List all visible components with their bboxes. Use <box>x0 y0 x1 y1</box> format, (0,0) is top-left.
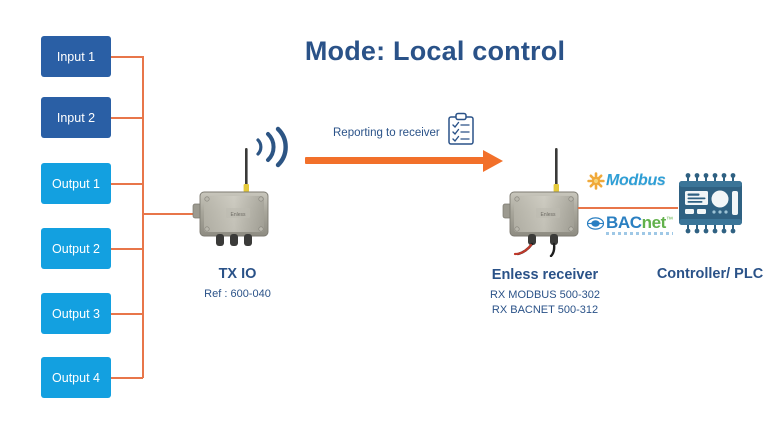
io-box-input-1[interactable]: Input 1 <box>41 36 111 77</box>
clipboard-checklist <box>447 112 475 151</box>
io-box-input-2[interactable]: Input 2 <box>41 97 111 138</box>
flow-arrow-shaft <box>305 157 485 164</box>
bacnet-label-secondary: net <box>642 213 666 232</box>
io-box-label: Input 2 <box>57 111 95 125</box>
io-box-output-1[interactable]: Output 1 <box>41 163 111 204</box>
page-title: Mode: Local control <box>300 36 570 67</box>
bacnet-logo: BACnet™ <box>587 213 673 233</box>
diagram-canvas: Mode: Local control Input 1 Input 2 Outp… <box>0 0 780 438</box>
clipboard-checklist-icon <box>447 112 475 146</box>
bacnet-underline-decoration <box>606 232 673 235</box>
modbus-label: Modbus <box>606 172 666 190</box>
wifi-signal-icon <box>252 126 292 168</box>
svg-text:Enless: Enless <box>540 212 556 218</box>
io-box-output-2[interactable]: Output 2 <box>41 228 111 269</box>
receiver-model-bacnet: RX BACNET 500-312 <box>475 304 615 316</box>
wireless-receiver-enclosure-icon: Enless <box>500 142 595 257</box>
controller-device <box>676 172 754 249</box>
modbus-star-icon <box>587 172 605 190</box>
wire-vertical-bus <box>142 56 144 378</box>
io-box-label: Output 4 <box>52 371 100 385</box>
modbus-logo: Modbus <box>587 172 666 190</box>
wire-stub-output-4 <box>110 377 143 379</box>
svg-text:Enless: Enless <box>230 212 246 218</box>
wire-stub-input-2 <box>110 117 143 119</box>
receiver-device: Enless <box>500 142 595 262</box>
plc-controller-icon <box>676 172 754 244</box>
wire-stub-output-3 <box>110 313 143 315</box>
transmitter-name: TX IO <box>185 266 290 282</box>
wire-stub-output-1 <box>110 183 143 185</box>
bacnet-label-primary: BAC <box>606 213 642 232</box>
io-box-label: Output 1 <box>52 177 100 191</box>
controller-label: Controller/ PLC <box>640 266 780 282</box>
receiver-name: Enless receiver <box>475 267 615 283</box>
io-box-label: Output 2 <box>52 242 100 256</box>
bacnet-emblem-icon <box>587 216 604 231</box>
transmitter-reference: Ref : 600-040 <box>185 288 290 300</box>
io-box-output-3[interactable]: Output 3 <box>41 293 111 334</box>
wire-stub-output-2 <box>110 248 143 250</box>
io-box-label: Input 1 <box>57 50 95 64</box>
bacnet-trademark: ™ <box>666 217 673 224</box>
receiver-model-modbus: RX MODBUS 500-302 <box>475 289 615 301</box>
wire-stub-input-1 <box>110 56 143 58</box>
transmitter-signal <box>252 126 292 173</box>
io-box-label: Output 3 <box>52 307 100 321</box>
io-box-output-4[interactable]: Output 4 <box>41 357 111 398</box>
wire-receiver-to-controller <box>578 207 678 209</box>
reporting-label: Reporting to receiver <box>333 127 440 139</box>
